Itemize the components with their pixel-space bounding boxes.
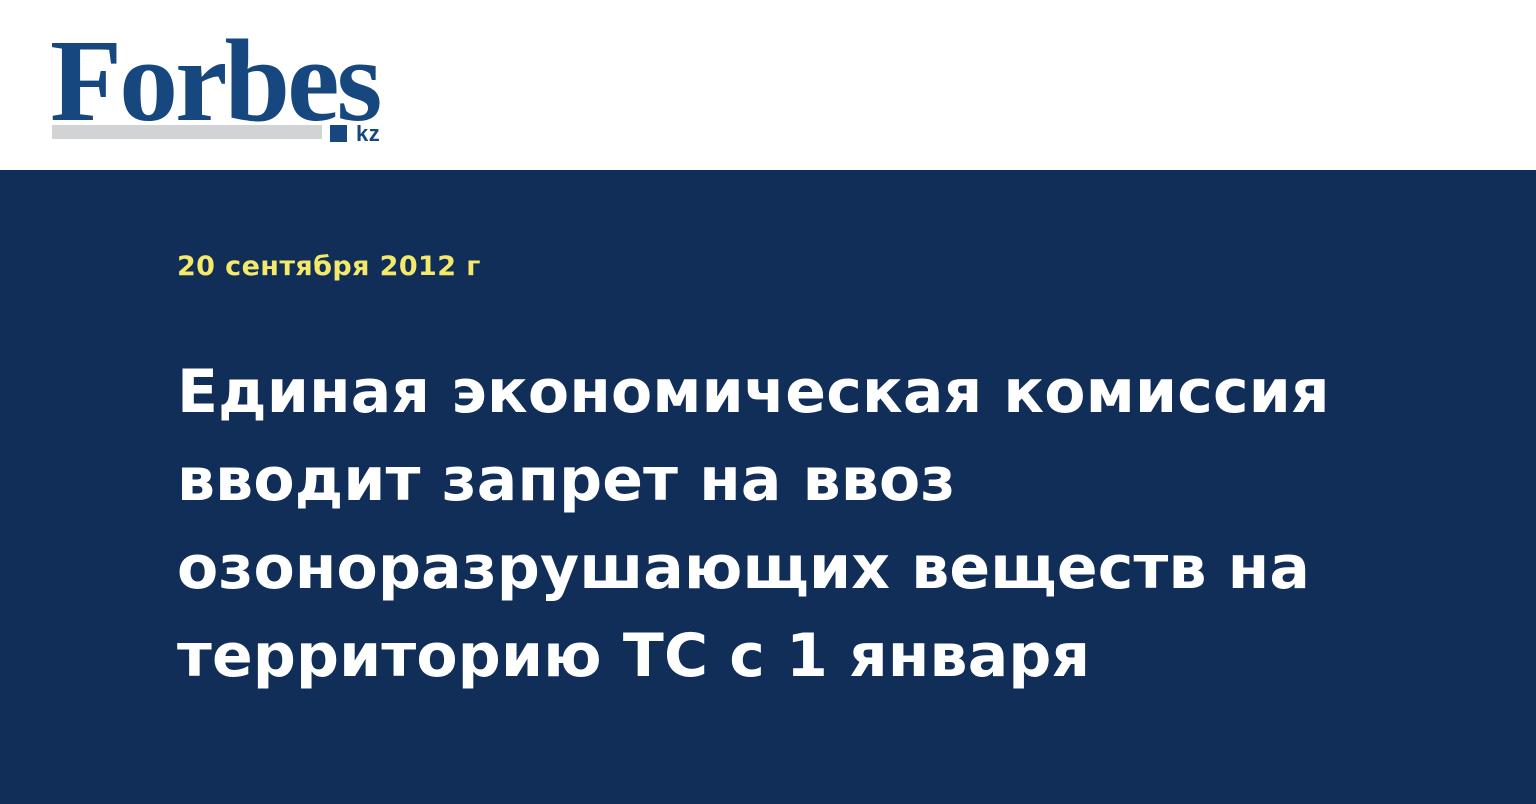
article-hero: 20 сентября 2012 г Единая экономическая … [0,170,1536,804]
article-page: Forbes kz 20 сентября 2012 г Единая экон… [0,0,1536,804]
article-date: 20 сентября 2012 г [177,252,481,282]
forbes-kz-logo[interactable]: Forbes kz [50,22,410,147]
site-header: Forbes kz [0,0,1536,170]
logo-tld-label: kz [356,123,380,145]
forbes-wordmark: Forbes [50,22,379,140]
logo-underbar [52,125,322,139]
logo-square-icon [330,125,347,142]
article-title: Единая экономическая комиссия вводит зап… [177,348,1337,700]
